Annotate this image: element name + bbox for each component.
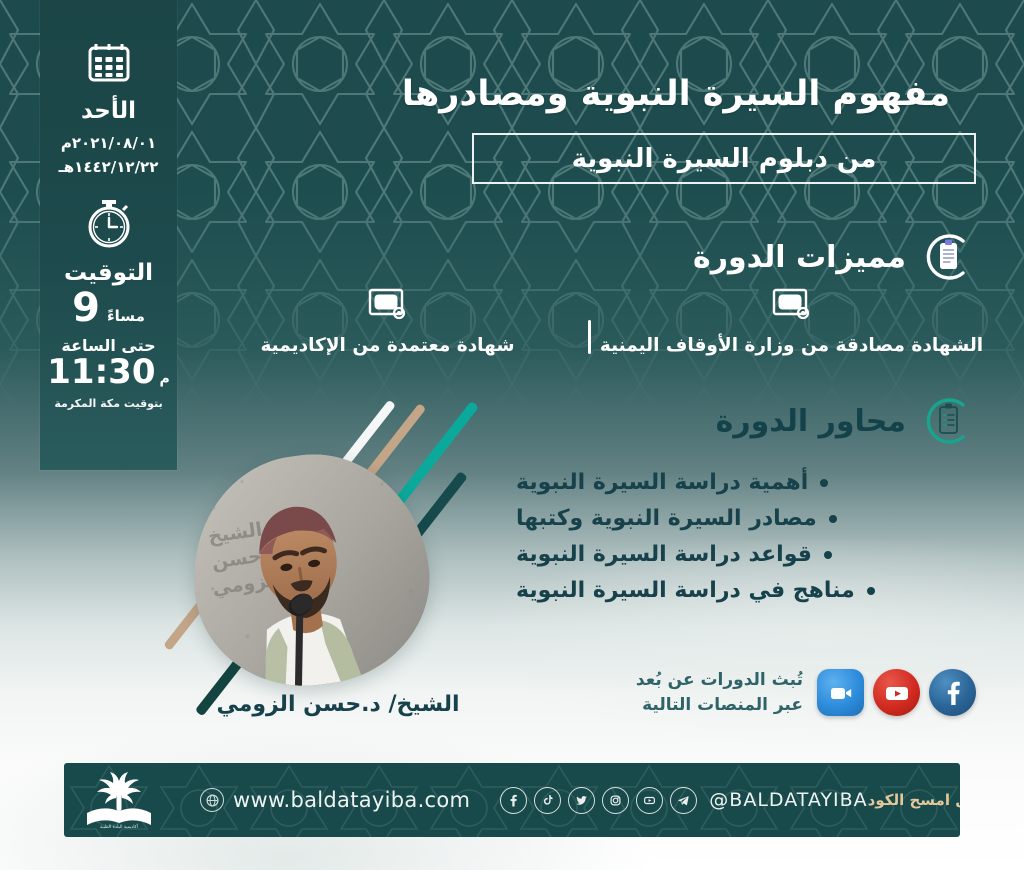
broadcast-section: تُبث الدورات عن بُعد عبر المنصات التالية: [586, 668, 976, 717]
globe-icon: [200, 788, 224, 812]
tree-book-logo-icon: أكاديمية البلدة الطيبة: [64, 763, 174, 837]
broadcast-line-2: عبر المنصات التالية: [636, 693, 803, 718]
topics-list: أهمية دراسة السيرة النبوية مصادر السيرة …: [516, 470, 976, 603]
certificate-icon: [368, 288, 408, 326]
topic-item: أهمية دراسة السيرة النبوية: [516, 470, 828, 495]
feature-item: شهادة معتمدة من الإكاديمية: [195, 288, 580, 356]
topic-item: مناهج في دراسة السيرة النبوية: [516, 578, 875, 603]
footer-bar: أكاديمية البلدة الطيبة www.baldatayiba.c…: [64, 763, 960, 837]
topic-item: قواعد دراسة السيرة النبوية: [516, 542, 832, 567]
topic-label: مصادر السيرة النبوية وكتبها: [516, 506, 817, 531]
stopwatch-icon: [82, 194, 136, 254]
start-period: مساءً: [107, 307, 145, 325]
event-day: الأحد: [81, 98, 136, 124]
certificate-icon: [772, 288, 812, 326]
website-url: www.baldatayiba.com: [233, 788, 470, 812]
page-title: مفهوم السيرة النبوية ومصادرها: [376, 74, 976, 114]
broadcast-line-1: تُبث الدورات عن بُعد: [636, 668, 803, 693]
social-handle: @BALDATAYIBA: [709, 789, 867, 811]
start-time: مساءً 9: [72, 288, 145, 328]
telegram-icon[interactable]: [670, 787, 697, 814]
feature-label: شهادة معتمدة من الإكاديمية: [260, 335, 514, 356]
topic-label: مناهج في دراسة السيرة النبوية: [516, 578, 855, 603]
feature-divider: [588, 320, 591, 354]
timing-label: التوقيت: [64, 260, 153, 286]
youtube-icon[interactable]: [873, 669, 920, 716]
bullet-icon: [829, 515, 837, 523]
hijri-date: ١٤٤٢/١٢/٢٢هـ: [59, 158, 159, 176]
twitter-icon[interactable]: [568, 787, 595, 814]
bullet-icon: [824, 551, 832, 559]
calendar-icon: [86, 38, 132, 88]
platform-icons: [817, 669, 976, 716]
speaker-photo: الشيخ حسن الزومي: [178, 440, 443, 700]
topic-label: أهمية دراسة السيرة النبوية: [516, 470, 808, 495]
features-heading-label: مميزات الدورة: [693, 240, 906, 275]
instagram-icon[interactable]: [602, 787, 629, 814]
topics-heading: محاور الدورة: [716, 392, 976, 450]
tiktok-icon[interactable]: [534, 787, 561, 814]
facebook-icon[interactable]: [929, 669, 976, 716]
schedule-panel: الأحد ٢٠٢١/٠٨/٠١م ١٤٤٢/١٢/٢٢هـ: [40, 0, 177, 470]
clipboard-arc-icon: [918, 228, 976, 286]
broadcast-text: تُبث الدورات عن بُعد عبر المنصات التالية: [636, 668, 803, 717]
speaker-portrait-image: الشيخ حسن الزومي: [178, 440, 443, 700]
topics-heading-label: محاور الدورة: [716, 404, 906, 439]
gregorian-date: ٢٠٢١/٠٨/٠١م: [61, 134, 156, 152]
qr-instruction: للتسجيل امسح الكود: [868, 791, 960, 809]
topic-item: مصادر السيرة النبوية وكتبها: [516, 506, 837, 531]
features-list: الشهادة مصادقة من وزارة الأوقاف اليمنية …: [194, 288, 984, 356]
speaker-photo-block: الشيخ حسن الزومي: [168, 400, 528, 730]
zoom-icon[interactable]: [817, 669, 864, 716]
timezone-note: بتوقيت مكة المكرمة: [54, 397, 162, 410]
bullet-icon: [820, 479, 828, 487]
bullet-icon: [867, 587, 875, 595]
speaker-name: الشيخ/ د.حسن الزومي: [168, 692, 508, 717]
svg-text:أكاديمية البلدة الطيبة: أكاديمية البلدة الطيبة: [100, 823, 138, 829]
start-hour: 9: [72, 288, 100, 328]
subtitle-badge: من دبلوم السيرة النبوية: [472, 133, 976, 184]
footer-social-links: [500, 787, 697, 814]
facebook-icon[interactable]: [500, 787, 527, 814]
topic-label: قواعد دراسة السيرة النبوية: [516, 542, 812, 567]
until-period: م: [159, 371, 169, 387]
youtube-icon[interactable]: [636, 787, 663, 814]
feature-item: الشهادة مصادقة من وزارة الأوقاف اليمنية: [599, 288, 984, 356]
checklist-arc-icon: [918, 392, 976, 450]
course-announcement-poster: الأحد ٢٠٢١/٠٨/٠١م ١٤٤٢/١٢/٢٢هـ: [0, 0, 1024, 870]
website-link[interactable]: www.baldatayiba.com: [200, 788, 470, 812]
features-heading: مميزات الدورة: [693, 228, 976, 286]
until-time-row: م 11:30: [47, 355, 170, 391]
until-time: 11:30: [47, 355, 155, 391]
feature-label: الشهادة مصادقة من وزارة الأوقاف اليمنية: [600, 335, 983, 356]
